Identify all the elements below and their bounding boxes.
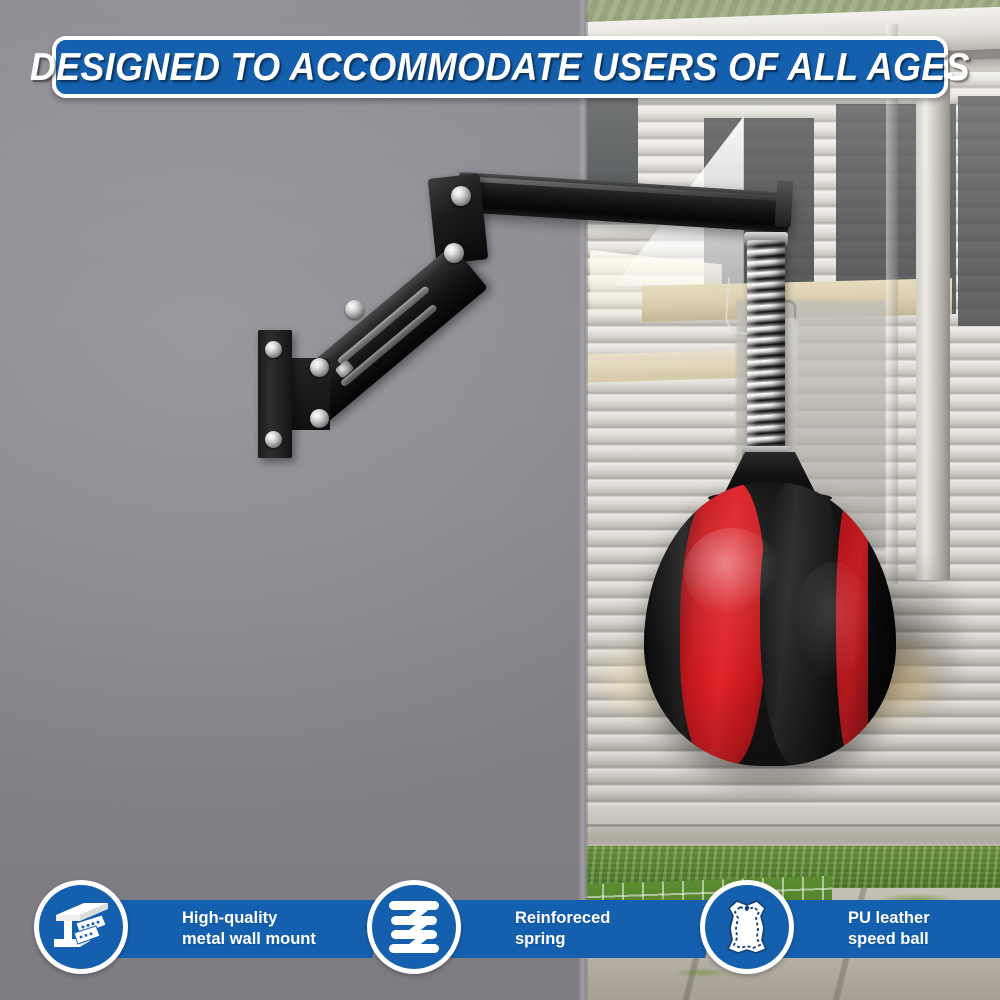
feature-tag-1: High-quality metal wall mount bbox=[96, 900, 381, 958]
headline-text: DESIGNED TO ACCOMMODATE USERS OF ALL AGE… bbox=[30, 48, 970, 87]
feature-icon-circle-1 bbox=[34, 880, 128, 974]
product-feature-image: DESIGNED TO ACCOMMODATE USERS OF ALL AGE… bbox=[0, 0, 1000, 1000]
ledge-edge-line bbox=[586, 824, 1000, 827]
warm-light-glow-2 bbox=[782, 640, 932, 716]
feature-icon-circle-3 bbox=[700, 880, 794, 974]
i-beam-icon bbox=[50, 899, 112, 955]
feature-label-3: PU leather speed ball bbox=[848, 908, 930, 951]
spring-coil-icon bbox=[385, 897, 443, 957]
studio-background-vignette bbox=[0, 0, 586, 1000]
headline-banner: DESIGNED TO ACCOMMODATE USERS OF ALL AGE… bbox=[52, 36, 948, 98]
feature-label-2: Reinforeced spring bbox=[515, 908, 610, 951]
porch-post bbox=[916, 60, 950, 580]
wall-panel-dark-4 bbox=[958, 96, 1000, 326]
feature-icon-circle-2 bbox=[367, 880, 461, 974]
feature-label-1: High-quality metal wall mount bbox=[182, 908, 316, 951]
porch-post-far bbox=[886, 24, 898, 584]
outdoor-background-right bbox=[586, 0, 1000, 1000]
wall-panel-dark-1 bbox=[586, 96, 638, 218]
feature-tag-3: PU leather speed ball bbox=[762, 900, 1000, 958]
feature-badge-row: High-quality metal wall mount bbox=[0, 878, 1000, 982]
background-split-seam bbox=[578, 0, 588, 1000]
warm-light-glow-1 bbox=[698, 592, 818, 656]
feature-tag-2: Reinforeced spring bbox=[429, 900, 714, 958]
warm-light-glow-3 bbox=[602, 652, 692, 708]
hanging-bag-blur bbox=[752, 318, 798, 496]
leather-hide-icon bbox=[716, 896, 778, 958]
